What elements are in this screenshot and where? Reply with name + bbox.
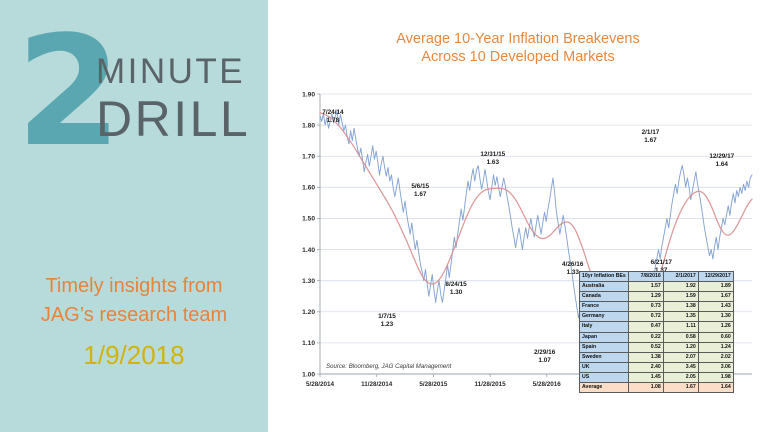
table-row: France0.731.381.43 xyxy=(580,302,734,312)
table-head: 10yr Inflation BEs 7/8/2016 2/1/2017 12/… xyxy=(580,272,734,282)
tagline-line-2: JAG’s research team xyxy=(0,301,268,330)
chart-source-note: Source: Bloomberg, JAG Capital Managemen… xyxy=(326,363,452,370)
annotation-value: 1.07 xyxy=(538,357,551,364)
y-axis-tick-label: 1.20 xyxy=(302,309,315,316)
y-axis-tick-label: 1.10 xyxy=(302,340,315,347)
table-row: Sweden1.382.072.02 xyxy=(580,352,734,362)
table-cell-country: Australia xyxy=(580,282,629,292)
chart-title-line-1: Average 10-Year Inflation Breakevens xyxy=(268,30,768,48)
table-header-col-2: 12/29/2017 xyxy=(698,272,733,282)
table-cell-value: 2.02 xyxy=(698,352,733,362)
annotation-value: 1.67 xyxy=(414,191,427,198)
table-row: UK2.403.453.06 xyxy=(580,362,734,372)
table-cell-value: 0.73 xyxy=(628,302,663,312)
x-axis-tick-label: 5/28/2014 xyxy=(306,381,335,388)
y-axis-tick-label: 1.60 xyxy=(302,185,315,192)
table-cell-country: Average xyxy=(580,383,629,393)
annotation-value: 1.33 xyxy=(566,269,579,276)
table-cell-value: 0.72 xyxy=(628,312,663,322)
table-cell-country: US xyxy=(580,372,629,382)
table-cell-country: Italy xyxy=(580,322,629,332)
annotation-date: 8/24/15 xyxy=(445,281,467,288)
table-cell-value: 0.60 xyxy=(698,332,733,342)
annotation-value: 1.67 xyxy=(644,137,657,144)
table-header-row: 10yr Inflation BEs 7/8/2016 2/1/2017 12/… xyxy=(580,272,734,282)
x-axis-tick-label: 11/28/2015 xyxy=(474,381,506,388)
table-cell-value: 0.22 xyxy=(628,332,663,342)
table-row: Spain0.521.201.24 xyxy=(580,342,734,352)
inflation-breakevens-table: 10yr Inflation BEs 7/8/2016 2/1/2017 12/… xyxy=(579,271,734,393)
annotation-date: 1/7/15 xyxy=(378,313,396,320)
table-cell-value: 1.67 xyxy=(663,383,698,393)
annotation-value: 1.23 xyxy=(381,321,394,328)
table-cell-country: Spain xyxy=(580,342,629,352)
table-cell-country: France xyxy=(580,302,629,312)
table-body: Australia1.571.921.89Canada1.291.591.67F… xyxy=(580,282,734,393)
annotation-date: 12/29/17 xyxy=(709,153,734,160)
table-header-col-1: 2/1/2017 xyxy=(663,272,698,282)
annotation-date: 2/29/16 xyxy=(534,349,556,356)
y-axis-tick-label: 1.30 xyxy=(302,278,315,285)
logo-word-minute: MINUTE xyxy=(96,52,250,91)
x-axis-tick-label: 5/28/2016 xyxy=(533,381,562,388)
table-header-col-0: 7/8/2016 xyxy=(628,272,663,282)
x-axis-tick-label: 5/28/2015 xyxy=(419,381,448,388)
annotation-date: 7/24/14 xyxy=(322,109,344,116)
table-row: Canada1.291.591.67 xyxy=(580,292,734,302)
y-axis-tick-label: 1.00 xyxy=(302,371,315,378)
table-cell-country: Germany xyxy=(580,312,629,322)
table-cell-value: 1.26 xyxy=(698,322,733,332)
table-row: Average1.081.671.64 xyxy=(580,383,734,393)
table-cell-value: 1.38 xyxy=(663,302,698,312)
table-cell-value: 1.59 xyxy=(663,292,698,302)
annotation-value: 1.78 xyxy=(327,117,340,124)
logo-word-drill: DRILL xyxy=(96,93,250,145)
table-cell-value: 1.98 xyxy=(698,372,733,382)
annotation-value: 1.30 xyxy=(450,289,463,296)
chart-title: Average 10-Year Inflation Breakevens Acr… xyxy=(268,30,768,66)
annotation-value: 1.64 xyxy=(716,161,729,168)
annotation-date: 2/1/17 xyxy=(642,129,660,136)
x-axis-tick-label: 11/28/2014 xyxy=(361,381,393,388)
tagline: Timely insights from JAG’s research team xyxy=(0,272,268,330)
table-row: Japan0.220.580.60 xyxy=(580,332,734,342)
publication-date: 1/9/2018 xyxy=(0,340,268,370)
y-axis-tick-label: 1.90 xyxy=(302,91,315,98)
y-axis-tick-label: 1.70 xyxy=(302,154,315,161)
annotation-value: 1.63 xyxy=(487,159,500,166)
table-cell-value: 2.40 xyxy=(628,362,663,372)
table-cell-value: 1.35 xyxy=(663,312,698,322)
table-header-label: 10yr Inflation BEs xyxy=(580,272,629,282)
y-axis-tick-label: 1.50 xyxy=(302,216,315,223)
tagline-line-1: Timely insights from xyxy=(0,272,268,301)
annotation-date: 12/31/15 xyxy=(480,151,505,158)
table-cell-value: 1.92 xyxy=(663,282,698,292)
table-cell-value: 1.89 xyxy=(698,282,733,292)
table-cell-value: 1.38 xyxy=(628,352,663,362)
table-row: Australia1.571.921.89 xyxy=(580,282,734,292)
table-cell-value: 2.05 xyxy=(663,372,698,382)
table-row: US1.452.051.98 xyxy=(580,372,734,382)
table-cell-value: 0.47 xyxy=(628,322,663,332)
chart-title-line-2: Across 10 Developed Markets xyxy=(268,48,768,66)
y-axis-tick-label: 1.80 xyxy=(302,122,315,129)
table-cell-value: 1.45 xyxy=(628,372,663,382)
two-minute-drill-logo: 2 MINUTE DRILL xyxy=(0,24,268,174)
table-cell-value: 1.24 xyxy=(698,342,733,352)
y-axis-tick-label: 1.40 xyxy=(302,247,315,254)
table-cell-value: 1.20 xyxy=(663,342,698,352)
table-cell-value: 1.29 xyxy=(628,292,663,302)
table-cell-value: 1.57 xyxy=(628,282,663,292)
table-cell-value: 1.11 xyxy=(663,322,698,332)
table-row: Germany0.721.351.30 xyxy=(580,312,734,322)
table-cell-value: 1.08 xyxy=(628,383,663,393)
slide-root: 2 MINUTE DRILL Timely insights from JAG’… xyxy=(0,0,768,432)
table-cell-country: UK xyxy=(580,362,629,372)
table-cell-country: Canada xyxy=(580,292,629,302)
logo-wordmark: MINUTE DRILL xyxy=(96,52,250,145)
annotation-date: 6/21/17 xyxy=(651,259,673,266)
table-cell-country: Sweden xyxy=(580,352,629,362)
annotation-date: 4/26/16 xyxy=(562,261,584,268)
table-cell-value: 1.67 xyxy=(698,292,733,302)
branding-panel: 2 MINUTE DRILL Timely insights from JAG’… xyxy=(0,0,268,432)
table-cell-value: 0.52 xyxy=(628,342,663,352)
table-cell-value: 1.64 xyxy=(698,383,733,393)
annotation-date: 5/6/15 xyxy=(411,183,429,190)
table-cell-value: 3.45 xyxy=(663,362,698,372)
table-cell-value: 1.30 xyxy=(698,312,733,322)
chart-panel: Average 10-Year Inflation Breakevens Acr… xyxy=(268,0,768,432)
table-cell-country: Japan xyxy=(580,332,629,342)
table-cell-value: 0.58 xyxy=(663,332,698,342)
table-cell-value: 3.06 xyxy=(698,362,733,372)
table-cell-value: 2.07 xyxy=(663,352,698,362)
table-cell-value: 1.43 xyxy=(698,302,733,312)
table-row: Italy0.471.111.26 xyxy=(580,322,734,332)
